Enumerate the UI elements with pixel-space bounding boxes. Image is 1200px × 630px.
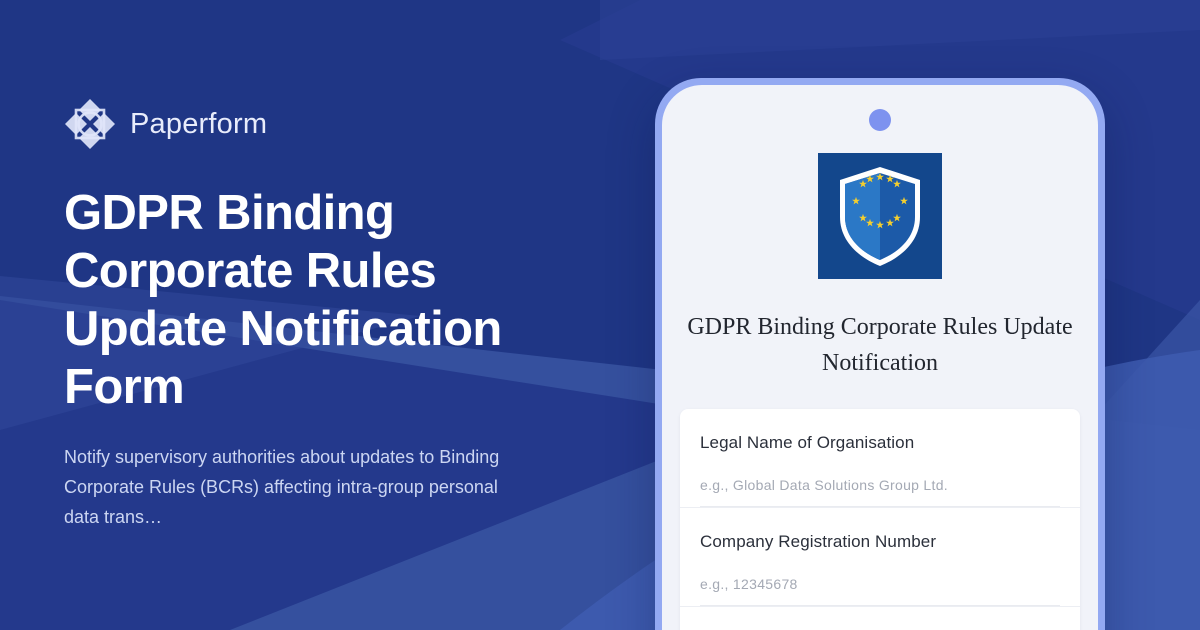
front-camera-dot-icon xyxy=(869,109,891,131)
field-label: Legal Name of Organisation xyxy=(700,433,1060,453)
share-card-canvas: Paperform GDPR Binding Corporate Rules U… xyxy=(0,0,1200,630)
form-field-next-partial[interactable] xyxy=(680,607,1080,630)
field-label: Company Registration Number xyxy=(700,532,1060,552)
legal-name-input[interactable]: e.g., Global Data Solutions Group Ltd. xyxy=(700,477,1060,507)
form-field-legal-name[interactable]: Legal Name of Organisation e.g., Global … xyxy=(680,409,1080,508)
hero-content: Paperform GDPR Binding Corporate Rules U… xyxy=(64,0,584,630)
brand-lockup: Paperform xyxy=(64,98,584,150)
form-field-registration-number[interactable]: Company Registration Number e.g., 123456… xyxy=(680,508,1080,607)
phone-screen: GDPR Binding Corporate Rules Update Noti… xyxy=(662,85,1098,630)
registration-number-input[interactable]: e.g., 12345678 xyxy=(700,576,1060,606)
phone-mockup: GDPR Binding Corporate Rules Update Noti… xyxy=(655,78,1105,630)
form-fields-card: Legal Name of Organisation e.g., Global … xyxy=(680,409,1080,630)
brand-name: Paperform xyxy=(130,108,267,141)
form-title: GDPR Binding Corporate Rules Update Noti… xyxy=(684,309,1076,381)
paperform-logo-icon xyxy=(64,98,116,150)
eu-shield-stars-icon xyxy=(818,153,942,279)
page-title: GDPR Binding Corporate Rules Update Noti… xyxy=(64,184,544,416)
page-description: Notify supervisory authorities about upd… xyxy=(64,442,534,532)
